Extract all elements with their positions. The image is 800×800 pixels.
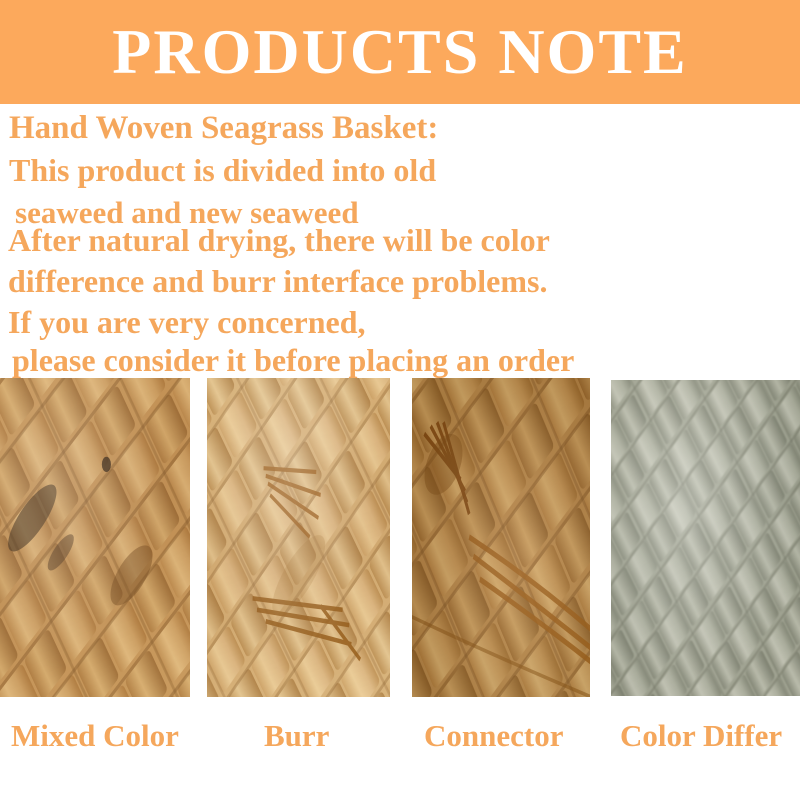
- woven-seagrass-texture-icon: [0, 378, 190, 697]
- woven-seagrass-texture-icon: [412, 378, 590, 697]
- caption-color-differ: Color Differ: [620, 716, 782, 756]
- note-line-1: This product is divided into old: [9, 154, 436, 186]
- sample-photo-connector: [412, 378, 590, 697]
- note-line-3: After natural drying, there will be colo…: [8, 224, 550, 256]
- caption-connector: Connector: [424, 716, 563, 756]
- sample-photo-color-differ: [611, 380, 800, 696]
- page-title: PRODUCTS NOTE: [0, 12, 800, 92]
- header-banner: PRODUCTS NOTE: [0, 0, 800, 104]
- woven-seagrass-texture-icon: [207, 378, 390, 697]
- products-note-infographic: PRODUCTS NOTE Hand Woven Seagrass Basket…: [0, 0, 800, 800]
- caption-row: Mixed Color Burr Connector Color Differ: [0, 716, 800, 764]
- sample-photo-mixed-color: [0, 378, 190, 697]
- caption-burr: Burr: [264, 716, 329, 756]
- note-line-5: If you are very concerned,: [8, 306, 366, 338]
- woven-seagrass-texture-icon: [611, 380, 800, 696]
- sample-photo-row: [0, 378, 800, 698]
- caption-mixed-color: Mixed Color: [11, 716, 179, 756]
- note-line-heading: Hand Woven Seagrass Basket:: [9, 112, 438, 145]
- sample-photo-burr: [207, 378, 390, 697]
- note-text-block: Hand Woven Seagrass Basket: This product…: [0, 104, 800, 376]
- note-line-4: difference and burr interface problems.: [8, 265, 547, 297]
- note-line-6: please consider it before placing an ord…: [12, 344, 574, 376]
